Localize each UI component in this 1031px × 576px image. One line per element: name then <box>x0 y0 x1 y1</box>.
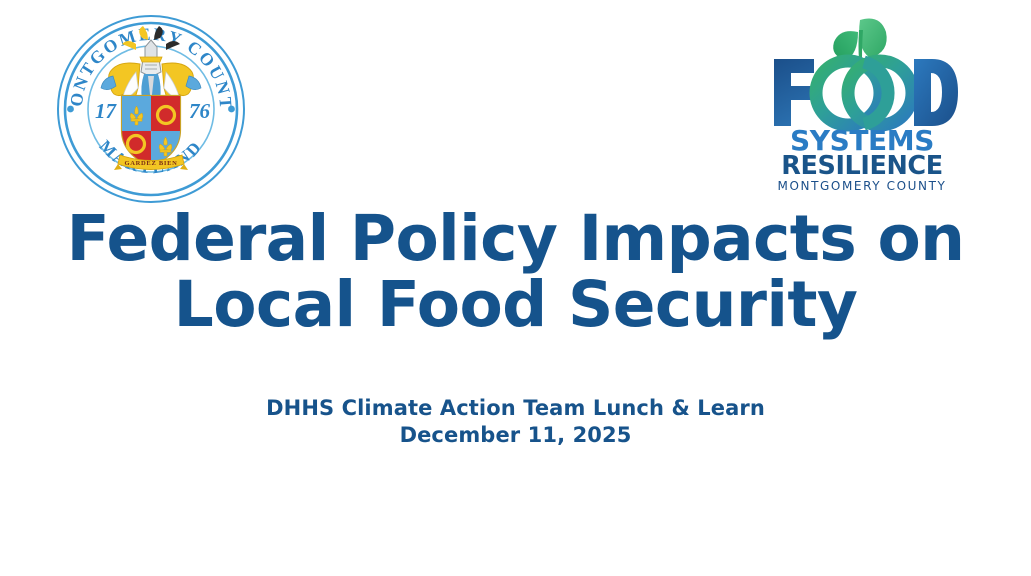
apple-double-o <box>816 61 912 125</box>
title-line-2: Local Food Security <box>0 272 1031 338</box>
subtitle-line-2: December 11, 2025 <box>0 422 1031 449</box>
logo-resilience-text: RESILIENCE <box>781 151 943 181</box>
letter-f <box>774 59 814 126</box>
subtitle-line-1: DHHS Climate Action Team Lunch & Learn <box>0 395 1031 422</box>
leaf-right <box>859 19 887 59</box>
svg-text:76: 76 <box>189 99 211 123</box>
food-systems-resilience-logo-icon: SYSTEMS RESILIENCE MONTGOMERY COUNTY <box>762 10 962 194</box>
svg-text:17: 17 <box>95 99 118 123</box>
title-line-1: Federal Policy Impacts on <box>0 206 1031 272</box>
page-subtitle: DHHS Climate Action Team Lunch & Learn D… <box>0 395 1031 449</box>
letter-d <box>914 59 958 126</box>
svg-text:GARDEZ BIEN: GARDEZ BIEN <box>124 160 177 167</box>
logo-county-text: MONTGOMERY COUNTY <box>778 179 947 193</box>
page-title: Federal Policy Impacts on Local Food Sec… <box>0 206 1031 338</box>
title-slide: MONTGOMERY COUNTY MARYLAND 17 76 <box>0 0 1031 576</box>
montgomery-county-seal-icon: MONTGOMERY COUNTY MARYLAND 17 76 <box>56 14 246 204</box>
